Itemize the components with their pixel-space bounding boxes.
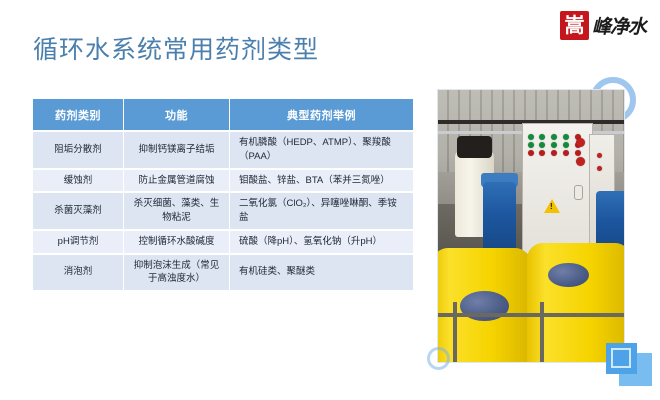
indicator-lamp-icon [528, 134, 534, 140]
table-body: 阻垢分散剂 抑制钙镁离子结垢 有机膦酸（HEDP、ATMP）、聚羧酸（PAA） … [33, 132, 413, 290]
hazard-warning-icon [544, 199, 560, 213]
table-header-row: 药剂类别 功能 典型药剂举例 [33, 99, 413, 130]
decor-square-front [606, 343, 637, 374]
chemicals-table-container: 药剂类别 功能 典型药剂举例 阻垢分散剂 抑制钙镁离子结垢 有机膦酸（HEDP、… [32, 97, 414, 292]
table-row: 缓蚀剂 防止金属管道腐蚀 钼酸盐、锌盐、BTA（苯并三氮唑） [33, 170, 413, 192]
indicator-lamp-icon [575, 150, 581, 156]
photo-indicator-lamp-grid [525, 134, 583, 156]
photo-small-button-icon [597, 153, 602, 158]
logo-brand-text: 峰净水 [592, 12, 646, 39]
indicator-lamp-icon [528, 142, 534, 148]
photo-emergency-button-icon [576, 138, 585, 147]
indicator-lamp-icon [551, 150, 557, 156]
photo-tank-lid [548, 263, 589, 287]
column-header-examples: 典型药剂举例 [230, 99, 413, 130]
slide-canvas: 嵩 峰净水 循环水系统常用药剂类型 药剂类别 功能 典型药剂举例 阻垢分散剂 抑… [0, 0, 660, 400]
indicator-lamp-icon [551, 134, 557, 140]
photo-valve-head [457, 136, 492, 158]
cell-category: 缓蚀剂 [33, 170, 123, 192]
indicator-lamp-icon [528, 150, 534, 156]
cell-function: 控制循环水酸碱度 [124, 231, 229, 253]
cell-function: 抑制泡沫生成（常见于高浊度水） [124, 255, 229, 291]
table-row: 消泡剂 抑制泡沫生成（常见于高浊度水） 有机硅类、聚醚类 [33, 255, 413, 291]
chemicals-table: 药剂类别 功能 典型药剂举例 阻垢分散剂 抑制钙镁离子结垢 有机膦酸（HEDP、… [32, 97, 414, 292]
indicator-lamp-icon [539, 134, 545, 140]
cell-function: 抑制钙镁离子结垢 [124, 132, 229, 168]
photo-mixer-motor [483, 182, 516, 253]
indicator-lamp-icon [563, 134, 569, 140]
table-row: pH调节剂 控制循环水酸碱度 硫酸（降pH）、氢氧化钠（升pH） [33, 231, 413, 253]
logo-seal-icon: 嵩 [560, 11, 589, 40]
cell-function: 防止金属管道腐蚀 [124, 170, 229, 192]
photo-support-post [453, 302, 457, 362]
table-row: 阻垢分散剂 抑制钙镁离子结垢 有机膦酸（HEDP、ATMP）、聚羧酸（PAA） [33, 132, 413, 168]
table-header: 药剂类别 功能 典型药剂举例 [33, 99, 413, 130]
photo-emergency-button-icon [576, 157, 585, 166]
photo-support-post [540, 302, 544, 362]
cell-category: 阻垢分散剂 [33, 132, 123, 168]
cell-category: pH调节剂 [33, 231, 123, 253]
cell-examples: 二氧化氯（ClO₂）、异噻唑啉酮、季铵盐 [230, 193, 413, 229]
cell-examples: 钼酸盐、锌盐、BTA（苯并三氮唑） [230, 170, 413, 192]
decor-ring-small [427, 347, 450, 370]
cell-category: 杀菌灭藻剂 [33, 193, 123, 229]
table-row: 杀菌灭藻剂 杀灭细菌、藻类、生物粘泥 二氧化氯（ClO₂）、异噻唑啉酮、季铵盐 [33, 193, 413, 229]
cell-examples: 有机膦酸（HEDP、ATMP）、聚羧酸（PAA） [230, 132, 413, 168]
photo-support-rail [438, 313, 624, 317]
photo-selector-switch [574, 185, 583, 200]
equipment-photo [438, 90, 624, 362]
cell-category: 消泡剂 [33, 255, 123, 291]
indicator-lamp-icon [539, 150, 545, 156]
indicator-lamp-icon [563, 142, 569, 148]
indicator-lamp-icon [551, 142, 557, 148]
indicator-lamp-icon [563, 150, 569, 156]
page-title: 循环水系统常用药剂类型 [33, 30, 319, 66]
indicator-lamp-icon [539, 142, 545, 148]
column-header-category: 药剂类别 [33, 99, 123, 130]
column-header-function: 功能 [124, 99, 229, 130]
cell-examples: 有机硅类、聚醚类 [230, 255, 413, 291]
brand-logo: 嵩 峰净水 [560, 8, 646, 42]
cell-function: 杀灭细菌、藻类、生物粘泥 [124, 193, 229, 229]
cell-examples: 硫酸（降pH）、氢氧化钠（升pH） [230, 231, 413, 253]
